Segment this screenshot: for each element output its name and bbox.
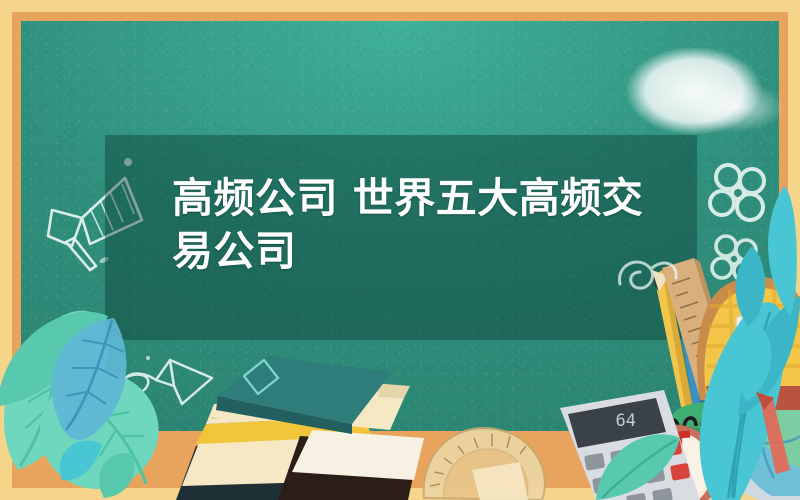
calculator-display-value: 64	[616, 411, 636, 431]
book-stack-left	[176, 356, 424, 500]
foreground-props: 1 64	[0, 0, 800, 500]
leaf-cluster-left	[0, 311, 159, 498]
banner-image: 高频公司 世界五大高频交易公司	[0, 0, 800, 500]
